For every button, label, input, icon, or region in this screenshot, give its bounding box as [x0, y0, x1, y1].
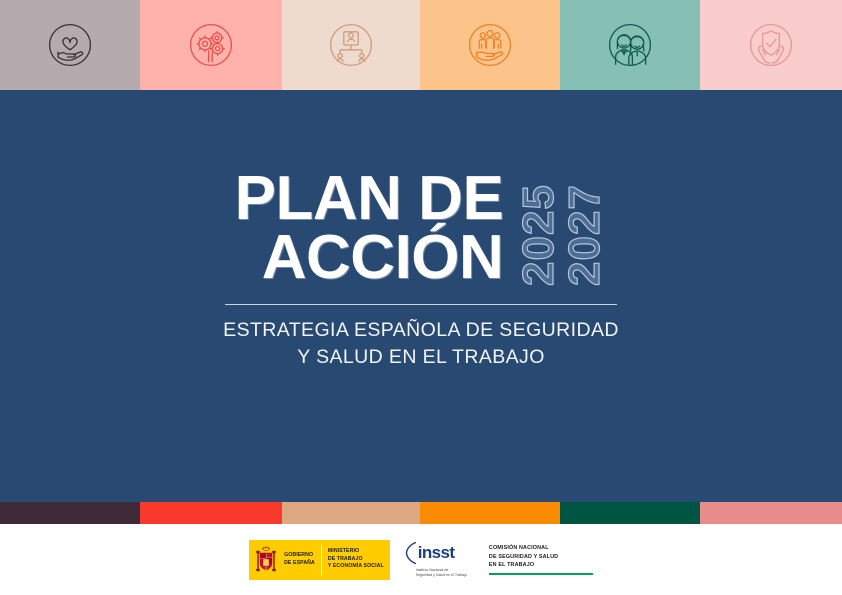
comision-line-2: DE SEGURIDAD Y SALUD	[489, 553, 593, 561]
gobierno-text: GOBIERNO DE ESPAÑA	[284, 552, 321, 567]
year-end: 2027	[563, 174, 607, 286]
cover-page: PLAN DE ACCIÓN 2025 2027 ESTRATEGIA ESPA…	[0, 0, 842, 595]
insst-sub-line-2: Seguridad y Salud en el Trabajo	[416, 573, 467, 578]
ministerio-text: MINISTERIO DE TRABAJO Y ECONOMÍA SOCIAL	[328, 548, 384, 571]
strip-segment-green	[560, 502, 700, 524]
title-lines: PLAN DE ACCIÓN	[235, 170, 504, 288]
title-divider	[225, 304, 617, 306]
hands-shield-check-icon	[741, 15, 801, 75]
icon-panel-3	[282, 0, 420, 90]
insst-subtitle: Instituto Nacional de Seguridad y Salud …	[416, 568, 467, 579]
gobierno-line-2: DE ESPAÑA	[284, 560, 315, 568]
subtitle-line-2: Y SALUD EN EL TRABAJO	[161, 344, 681, 370]
insst-wordmark: insst	[418, 544, 455, 561]
title-block: PLAN DE ACCIÓN 2025 2027 ESTRATEGIA ESPA…	[0, 170, 842, 370]
comision-green-bar	[489, 573, 593, 575]
hand-holding-group-icon	[460, 15, 520, 75]
footer-inner: GOBIERNO DE ESPAÑA MINISTERIO DE TRABAJO…	[249, 540, 593, 580]
icon-panel-6	[700, 0, 842, 90]
comision-line-3: EN EL TRABAJO	[489, 561, 593, 569]
subtitle-line-1: ESTRATEGIA ESPAÑOLA DE SEGURIDAD	[161, 317, 681, 343]
org-chart-people-icon	[321, 15, 381, 75]
insst-arc-icon	[404, 541, 417, 565]
icon-panel-4	[420, 0, 560, 90]
title-rows: PLAN DE ACCIÓN 2025 2027	[235, 170, 608, 288]
icon-panel-2	[140, 0, 282, 90]
strip-segment-plum	[0, 502, 140, 524]
two-people-icon	[600, 15, 660, 75]
icon-panel-5	[560, 0, 700, 90]
ministerio-line-1: MINISTERIO	[328, 548, 384, 556]
spain-coat-of-arms-icon	[253, 544, 279, 576]
gobierno-de-espana-logo: GOBIERNO DE ESPAÑA MINISTERIO DE TRABAJO…	[249, 540, 390, 580]
strip-segment-red	[140, 502, 282, 524]
hero-panel: PLAN DE ACCIÓN 2025 2027 ESTRATEGIA ESPA…	[0, 90, 842, 502]
insst-logo: insst Instituto Nacional de Seguridad y …	[404, 540, 467, 580]
insst-wordmark-row: insst	[404, 541, 467, 565]
strip-segment-sand	[282, 502, 420, 524]
subtitle: ESTRATEGIA ESPAÑOLA DE SEGURIDAD Y SALUD…	[161, 317, 681, 370]
strip-segment-salmon	[700, 502, 842, 524]
title-line-1: PLAN DE	[235, 170, 504, 229]
color-strip	[0, 502, 842, 524]
icon-panel-1	[0, 0, 140, 90]
footer-logos: GOBIERNO DE ESPAÑA MINISTERIO DE TRABAJO…	[0, 524, 842, 595]
ministerio-line-3: Y ECONOMÍA SOCIAL	[328, 563, 384, 571]
gears-tree-icon	[181, 15, 241, 75]
comision-nacional-logo: COMISIÓN NACIONAL DE SEGURIDAD Y SALUD E…	[489, 540, 593, 580]
gobierno-line-1: GOBIERNO	[284, 552, 315, 560]
title-line-2: ACCIÓN	[262, 229, 504, 288]
year-range: 2025 2027	[517, 174, 607, 286]
hand-holding-heart-icon	[40, 15, 100, 75]
comision-text: COMISIÓN NACIONAL DE SEGURIDAD Y SALUD E…	[489, 544, 593, 569]
year-start: 2025	[517, 174, 561, 286]
comision-line-1: COMISIÓN NACIONAL	[489, 544, 593, 552]
icon-band	[0, 0, 842, 90]
gobierno-divider	[321, 545, 322, 575]
strip-segment-orange	[420, 502, 560, 524]
